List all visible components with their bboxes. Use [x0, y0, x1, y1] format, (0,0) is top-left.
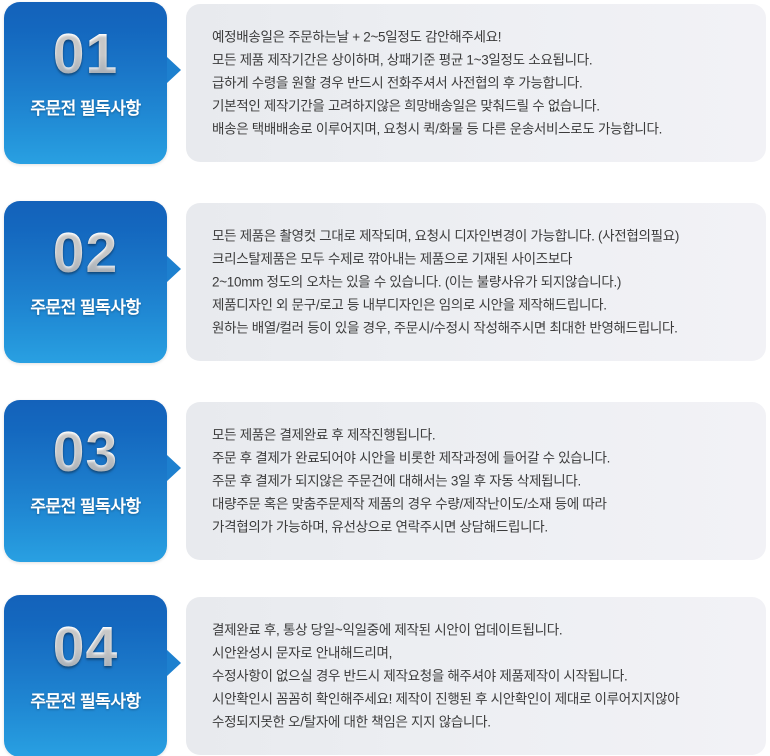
notice-line: 2~10mm 정도의 오차는 있을 수 있습니다. (이는 불량사유가 되지않습…	[212, 271, 752, 294]
notice-badge-01: 01 주문전 필독사항	[4, 2, 167, 164]
notice-line: 배송은 택배배송로 이루어지며, 요청시 퀵/화물 등 다른 운송서비스로도 가…	[212, 118, 752, 141]
notice-line: 모든 제품은 결제완료 후 제작진행됩니다.	[212, 424, 752, 447]
notice-section-04: 04 주문전 필독사항 결제완료 후, 통상 당일~익일중에 제작된 시안이 업…	[0, 593, 770, 756]
notice-line: 결제완료 후, 통상 당일~익일중에 제작된 시안이 업데이트됩니다.	[212, 619, 752, 642]
notice-line: 기본적인 제작기간을 고려하지않은 희망배송일은 맞춰드릴 수 없습니다.	[212, 95, 752, 118]
notice-text-block-03: 모든 제품은 결제완료 후 제작진행됩니다. 주문 후 결제가 완료되어야 시안…	[212, 424, 752, 539]
badge-arrow-icon	[167, 650, 181, 676]
notice-text-block-04: 결제완료 후, 통상 당일~익일중에 제작된 시안이 업데이트됩니다. 시안완성…	[212, 619, 752, 734]
badge-arrow-icon	[167, 256, 181, 282]
notice-panel-01: 예정배송일은 주문하는날 + 2~5일정도 감안해주세요! 모든 제품 제작기간…	[186, 4, 766, 162]
notice-line: 크리스탈제품은 모두 수제로 깎아내는 제품으로 기재된 사이즈보다	[212, 248, 752, 271]
notice-badge-02: 02 주문전 필독사항	[4, 201, 167, 363]
notice-section-02: 02 주문전 필독사항 모든 제품은 촬영컷 그대로 제작되며, 요청시 디자인…	[0, 199, 770, 365]
notice-section-03: 03 주문전 필독사항 모든 제품은 결제완료 후 제작진행됩니다. 주문 후 …	[0, 398, 770, 564]
badge-arrow-icon	[167, 455, 181, 481]
notice-text-block-02: 모든 제품은 촬영컷 그대로 제작되며, 요청시 디자인변경이 가능합니다. (…	[212, 225, 752, 340]
notice-number-03: 03	[4, 424, 167, 481]
notice-section-01: 01 주문전 필독사항 예정배송일은 주문하는날 + 2~5일정도 감안해주세요…	[0, 0, 770, 166]
notice-badge-label-02: 주문전 필독사항	[4, 293, 167, 318]
notice-badge-label-04: 주문전 필독사항	[4, 687, 167, 712]
notice-line: 가격협의가 가능하며, 유선상으로 연락주시면 상담해드립니다.	[212, 516, 752, 539]
notice-number-01: 01	[4, 26, 167, 83]
notice-line: 수정되지못한 오/탈자에 대한 책임은 지지 않습니다.	[212, 711, 752, 734]
notice-line: 예정배송일은 주문하는날 + 2~5일정도 감안해주세요!	[212, 26, 752, 49]
notice-badge-03: 03 주문전 필독사항	[4, 400, 167, 562]
notice-panel-04: 결제완료 후, 통상 당일~익일중에 제작된 시안이 업데이트됩니다. 시안완성…	[186, 597, 766, 755]
notice-line: 원하는 배열/컬러 등이 있을 경우, 주문시/수정시 작성해주시면 최대한 반…	[212, 317, 752, 340]
notice-panel-02: 모든 제품은 촬영컷 그대로 제작되며, 요청시 디자인변경이 가능합니다. (…	[186, 203, 766, 361]
notice-line: 수정사항이 없으실 경우 반드시 제작요청을 해주셔야 제품제작이 시작됩니다.	[212, 665, 752, 688]
notice-line: 시안확인시 꼼꼼히 확인해주세요! 제작이 진행된 후 시안확인이 제대로 이루…	[212, 688, 752, 711]
notice-badge-04: 04 주문전 필독사항	[4, 595, 167, 756]
notice-number-04: 04	[4, 619, 167, 676]
notice-line: 모든 제품 제작기간은 상이하며, 상패기준 평균 1~3일정도 소요됩니다.	[212, 49, 752, 72]
notice-number-02: 02	[4, 225, 167, 282]
notice-line: 주문 후 결제가 완료되어야 시안을 비롯한 제작과정에 들어갈 수 있습니다.	[212, 447, 752, 470]
notice-line: 제품디자인 외 문구/로고 등 내부디자인은 임의로 시안을 제작해드립니다.	[212, 294, 752, 317]
notice-panel-03: 모든 제품은 결제완료 후 제작진행됩니다. 주문 후 결제가 완료되어야 시안…	[186, 402, 766, 560]
notice-page: 01 주문전 필독사항 예정배송일은 주문하는날 + 2~5일정도 감안해주세요…	[0, 0, 770, 756]
notice-line: 급하게 수령을 원할 경우 반드시 전화주셔서 사전협의 후 가능합니다.	[212, 72, 752, 95]
notice-line: 대량주문 혹은 맞춤주문제작 제품의 경우 수량/제작난이도/소재 등에 따라	[212, 493, 752, 516]
notice-badge-label-03: 주문전 필독사항	[4, 492, 167, 517]
notice-line: 주문 후 결제가 되지않은 주문건에 대해서는 3일 후 자동 삭제됩니다.	[212, 470, 752, 493]
notice-line: 시안완성시 문자로 안내해드리며,	[212, 642, 752, 665]
notice-line: 모든 제품은 촬영컷 그대로 제작되며, 요청시 디자인변경이 가능합니다. (…	[212, 225, 752, 248]
notice-badge-label-01: 주문전 필독사항	[4, 94, 167, 119]
notice-text-block-01: 예정배송일은 주문하는날 + 2~5일정도 감안해주세요! 모든 제품 제작기간…	[212, 26, 752, 141]
badge-arrow-icon	[167, 57, 181, 83]
